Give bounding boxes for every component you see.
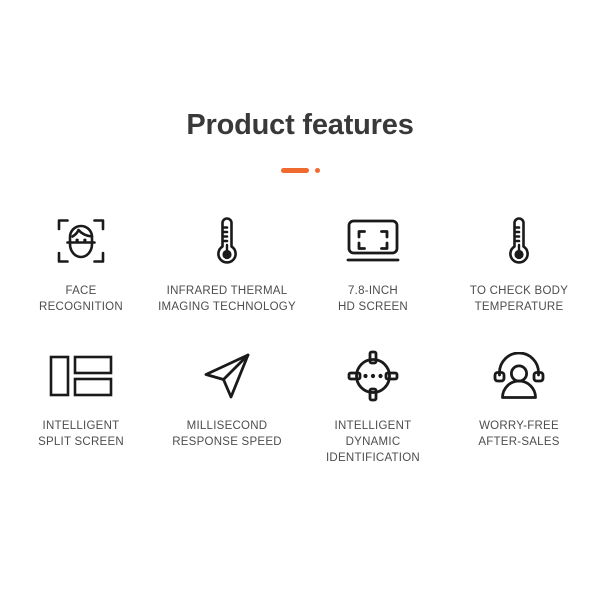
feature-item: FACE RECOGNITION: [8, 212, 154, 315]
feature-label: FACE RECOGNITION: [39, 283, 123, 315]
screen-icon: [345, 212, 401, 270]
crosshair-target-icon: [347, 347, 399, 405]
navigation-arrow-icon: [201, 347, 253, 405]
feature-label: 7.8-INCH HD SCREEN: [338, 283, 408, 315]
feature-label: INFRARED THERMAL IMAGING TECHNOLOGY: [158, 283, 296, 315]
feature-label: MILLISECOND RESPONSE SPEED: [172, 418, 282, 450]
page-title: Product features: [0, 108, 600, 142]
feature-item: INTELLIGENT SPLIT SCREEN: [8, 347, 154, 466]
feature-label: INTELLIGENT DYNAMIC IDENTIFICATION: [300, 418, 446, 466]
features-grid: FACE RECOGNITION INFRARED THERMAL IMAGIN…: [0, 212, 600, 466]
feature-item: WORRY-FREE AFTER-SALES: [446, 347, 592, 466]
feature-item: MILLISECOND RESPONSE SPEED: [154, 347, 300, 466]
thermometer-icon: [502, 212, 536, 270]
title-divider: [0, 166, 600, 174]
divider-bar-icon: [281, 168, 309, 173]
feature-item: TO CHECK BODY TEMPERATURE: [446, 212, 592, 315]
feature-label: TO CHECK BODY TEMPERATURE: [470, 283, 568, 315]
split-screen-icon: [49, 347, 113, 405]
page-header: Product features: [0, 0, 600, 174]
face-recognition-icon: [56, 212, 106, 270]
divider-dot-icon: [315, 168, 320, 173]
feature-item: INFRARED THERMAL IMAGING TECHNOLOGY: [154, 212, 300, 315]
feature-label: INTELLIGENT SPLIT SCREEN: [38, 418, 124, 450]
feature-item: 7.8-INCH HD SCREEN: [300, 212, 446, 315]
product-features-page: Product features: [0, 0, 600, 600]
feature-label: WORRY-FREE AFTER-SALES: [478, 418, 559, 450]
feature-item: INTELLIGENT DYNAMIC IDENTIFICATION: [300, 347, 446, 466]
headset-support-icon: [492, 347, 546, 405]
thermometer-icon: [210, 212, 244, 270]
